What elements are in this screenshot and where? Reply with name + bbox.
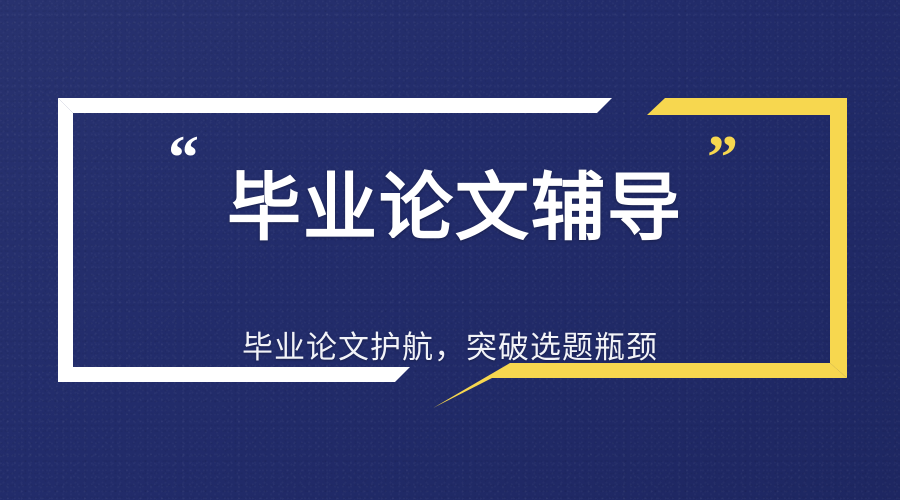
quote-open-icon: “: [168, 127, 199, 189]
banner-content: “ 毕业论文辅导 ” 毕业论文护航，突破选题瓶颈: [0, 0, 900, 500]
promo-banner: “ 毕业论文辅导 ” 毕业论文护航，突破选题瓶颈: [0, 0, 900, 500]
title-row: “ 毕业论文辅导 ”: [168, 119, 738, 296]
page-title: 毕业论文辅导: [227, 169, 683, 247]
page-subtitle: 毕业论文护航，突破选题瓶颈: [242, 322, 658, 367]
quote-close-icon: ”: [707, 127, 738, 189]
